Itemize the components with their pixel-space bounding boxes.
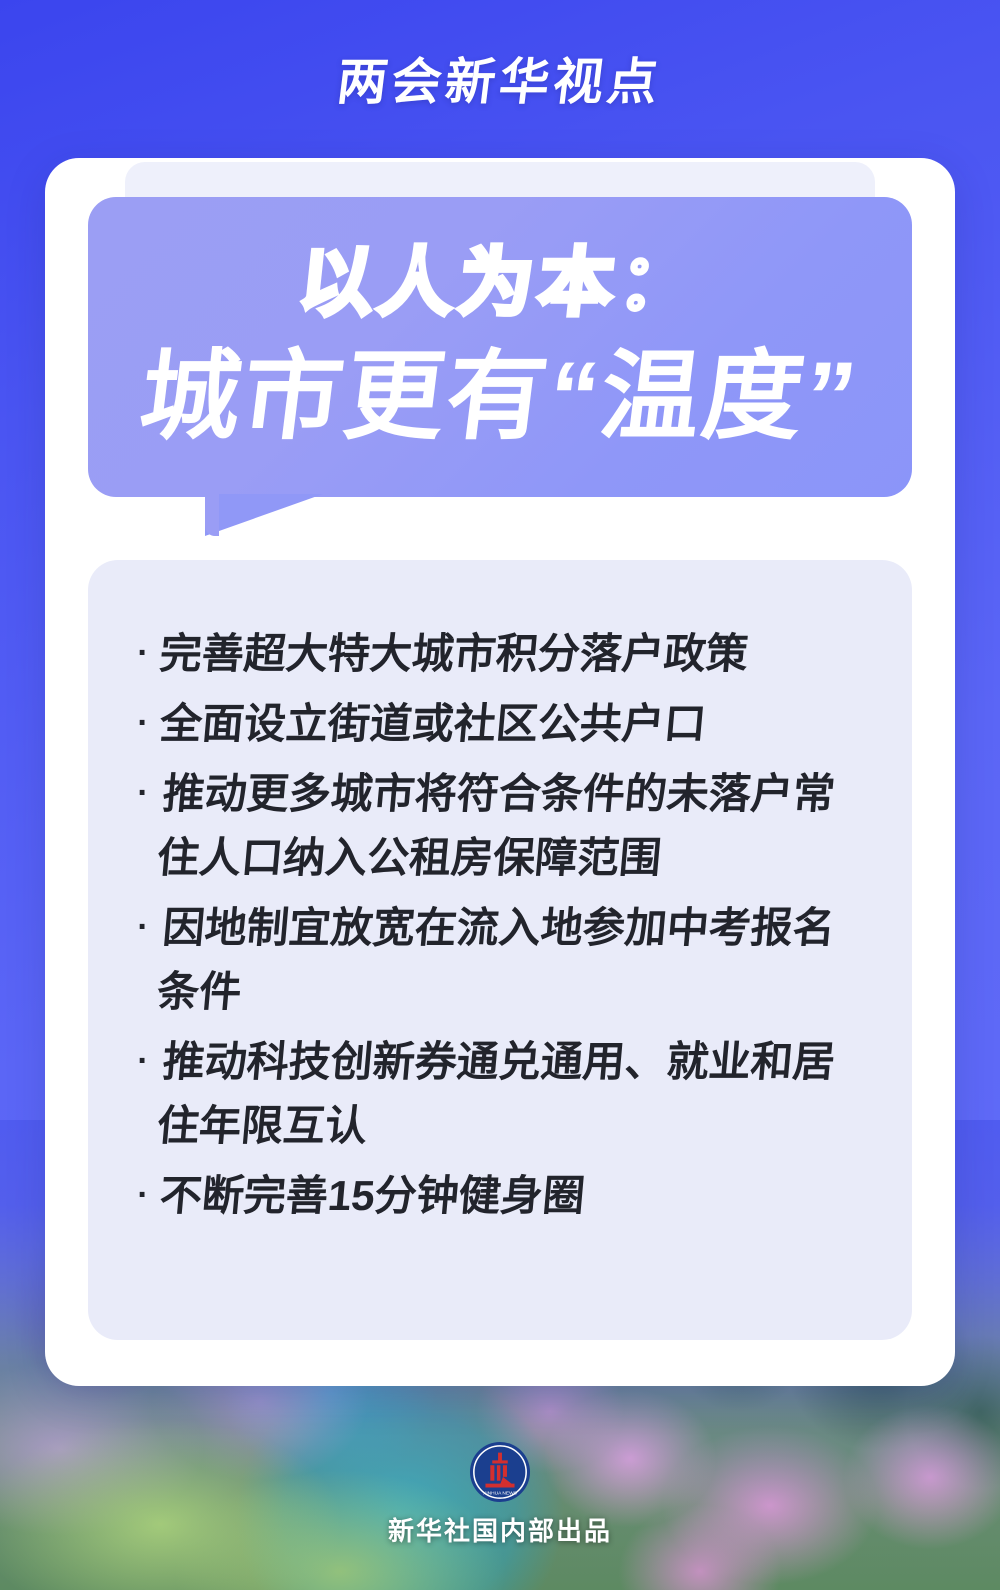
bullet-dot-icon: · xyxy=(126,1030,160,1092)
list-item-label: 完善超大特大城市积分落户政策 xyxy=(157,622,869,686)
title-bubble: 以人为本： 城市更有“温度” xyxy=(88,197,912,497)
infographic-poster: 两会新华视点 以人为本： 城市更有“温度” · 完善超大特大城市积分落户政策 ·… xyxy=(0,0,1000,1590)
title-bubble-tail xyxy=(205,494,323,536)
title-line-2: 城市更有“温度” xyxy=(71,317,929,459)
footer: XINHUA NEWS 新华社国内部出品 xyxy=(0,1441,1000,1548)
bullet-list-panel: · 完善超大特大城市积分落户政策 · 全面设立街道或社区公共户口 · 推动更多城… xyxy=(88,560,912,1340)
list-item: · 全面设立街道或社区公共户口 xyxy=(126,692,866,756)
list-item-label: 不断完善15分钟健身圈 xyxy=(157,1164,869,1228)
svg-text:XINHUA NEWS: XINHUA NEWS xyxy=(483,1490,517,1496)
header-title: 两会新华视点 xyxy=(334,42,667,114)
bullet-dot-icon: · xyxy=(126,762,160,824)
list-item-label: 推动科技创新券通兑通用、就业和居住年限互认 xyxy=(154,1030,871,1158)
bullet-dot-icon: · xyxy=(126,1164,160,1226)
header: 两会新华视点 xyxy=(0,42,1000,114)
footer-label: 新华社国内部出品 xyxy=(0,1511,1000,1548)
list-item-label: 因地制宜放宽在流入地参加中考报名条件 xyxy=(154,896,871,1024)
xinhua-emblem-icon: XINHUA NEWS xyxy=(469,1441,531,1503)
list-item: · 推动科技创新券通兑通用、就业和居住年限互认 xyxy=(126,1030,866,1158)
list-item-label: 推动更多城市将符合条件的未落户常住人口纳入公租房保障范围 xyxy=(154,762,871,890)
list-item: · 因地制宜放宽在流入地参加中考报名条件 xyxy=(126,896,866,1024)
list-item: · 完善超大特大城市积分落户政策 xyxy=(126,622,866,686)
bullet-dot-icon: · xyxy=(126,622,160,684)
list-item: · 推动更多城市将符合条件的未落户常住人口纳入公租房保障范围 xyxy=(126,762,866,890)
bullet-dot-icon: · xyxy=(126,692,160,754)
bullet-dot-icon: · xyxy=(126,896,160,958)
list-item-label: 全面设立街道或社区公共户口 xyxy=(157,692,869,756)
list-item: · 不断完善15分钟健身圈 xyxy=(126,1164,866,1228)
title-line-1: 以人为本： xyxy=(82,223,917,330)
